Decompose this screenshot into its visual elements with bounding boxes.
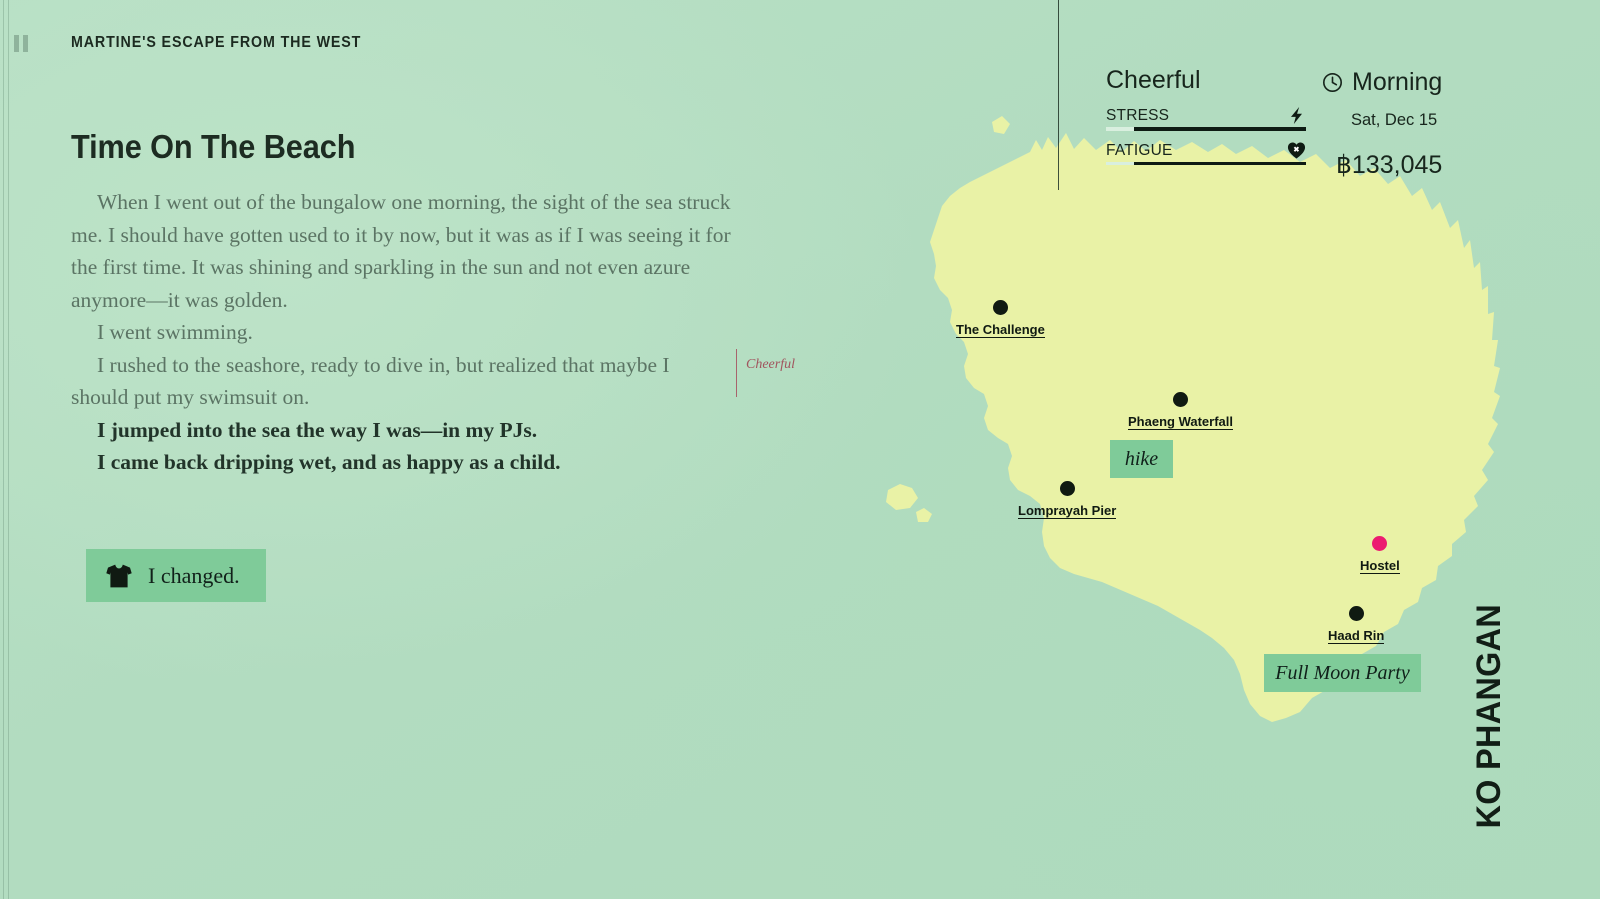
poi-phaeng-waterfall[interactable]: Phaeng Waterfall (1128, 392, 1233, 430)
meter-label: STRESS (1106, 107, 1306, 124)
map-marker-dot (1173, 392, 1188, 407)
time-of-day-row: Morning (1322, 70, 1522, 95)
story-paragraph: I went swimming. (71, 316, 731, 349)
story-column: Time On The Beach When I went out of the… (71, 128, 731, 479)
time-of-day-value: Morning (1352, 70, 1442, 95)
map-badge-hike[interactable]: hike (1110, 440, 1173, 478)
broken-heart-icon (1287, 141, 1306, 160)
poi-haad-rin[interactable]: Haad Rin (1328, 606, 1384, 644)
poi-label: Hostel (1360, 558, 1400, 574)
meter-fatigue: FATIGUE (1106, 142, 1306, 166)
choice-label: I changed. (148, 563, 240, 589)
margin-mood-note: Cheerful (736, 349, 795, 397)
meter-label: FATIGUE (1106, 142, 1306, 159)
poi-hostel[interactable]: Hostel (1360, 536, 1400, 574)
app-background: MARTINE'S ESCAPE FROM THE WEST Time On T… (0, 0, 1600, 899)
tshirt-icon (106, 564, 132, 588)
money-value: ฿133,045 (1336, 150, 1522, 180)
time-money-panel: Morning Sat, Dec 15 ฿133,045 (1322, 70, 1522, 180)
meter-fill (1134, 127, 1306, 131)
map-marker-dot (1349, 606, 1364, 621)
lightning-bolt-icon (1287, 106, 1306, 125)
poi-label: Phaeng Waterfall (1128, 414, 1233, 430)
map-marker-dot (1060, 481, 1075, 496)
story-paragraph: I jumped into the sea the way I was—in m… (71, 414, 731, 447)
clock-icon (1322, 72, 1343, 93)
status-divider-rule (1058, 0, 1059, 190)
page-title: MARTINE'S ESCAPE FROM THE WEST (71, 34, 361, 52)
story-paragraph: When I went out of the bungalow one morn… (71, 186, 731, 316)
poi-label: Haad Rin (1328, 628, 1384, 644)
story-paragraph: I rushed to the seashore, ready to dive … (71, 349, 731, 414)
story-paragraph: I came back dripping wet, and as happy a… (71, 446, 731, 479)
map-marker-dot (993, 300, 1008, 315)
pause-icon[interactable] (14, 35, 29, 52)
meter-stress: STRESS (1106, 107, 1306, 131)
pause-bar-right (23, 35, 28, 52)
gutter-rule-outer (3, 0, 4, 899)
date-value: Sat, Dec 15 (1351, 111, 1522, 130)
poi-the-challenge[interactable]: The Challenge (956, 300, 1045, 338)
poi-lomprayah-pier[interactable]: Lomprayah Pier (1018, 481, 1116, 519)
meter-track (1106, 127, 1306, 131)
map-badge-full-moon-party[interactable]: Full Moon Party (1264, 654, 1421, 692)
choice-button[interactable]: I changed. (86, 549, 266, 602)
gutter-rule-inner (8, 0, 9, 899)
pause-bar-left (14, 35, 19, 52)
meter-track (1106, 162, 1306, 166)
map-marker-dot-current (1372, 536, 1387, 551)
island-name-label: KO PHANGAN (1470, 604, 1509, 829)
margin-mood-label: Cheerful (746, 358, 795, 372)
poi-label: Lomprayah Pier (1018, 503, 1116, 519)
poi-label: The Challenge (956, 322, 1045, 338)
meter-fill (1134, 162, 1306, 166)
chapter-title: Time On The Beach (71, 128, 685, 166)
